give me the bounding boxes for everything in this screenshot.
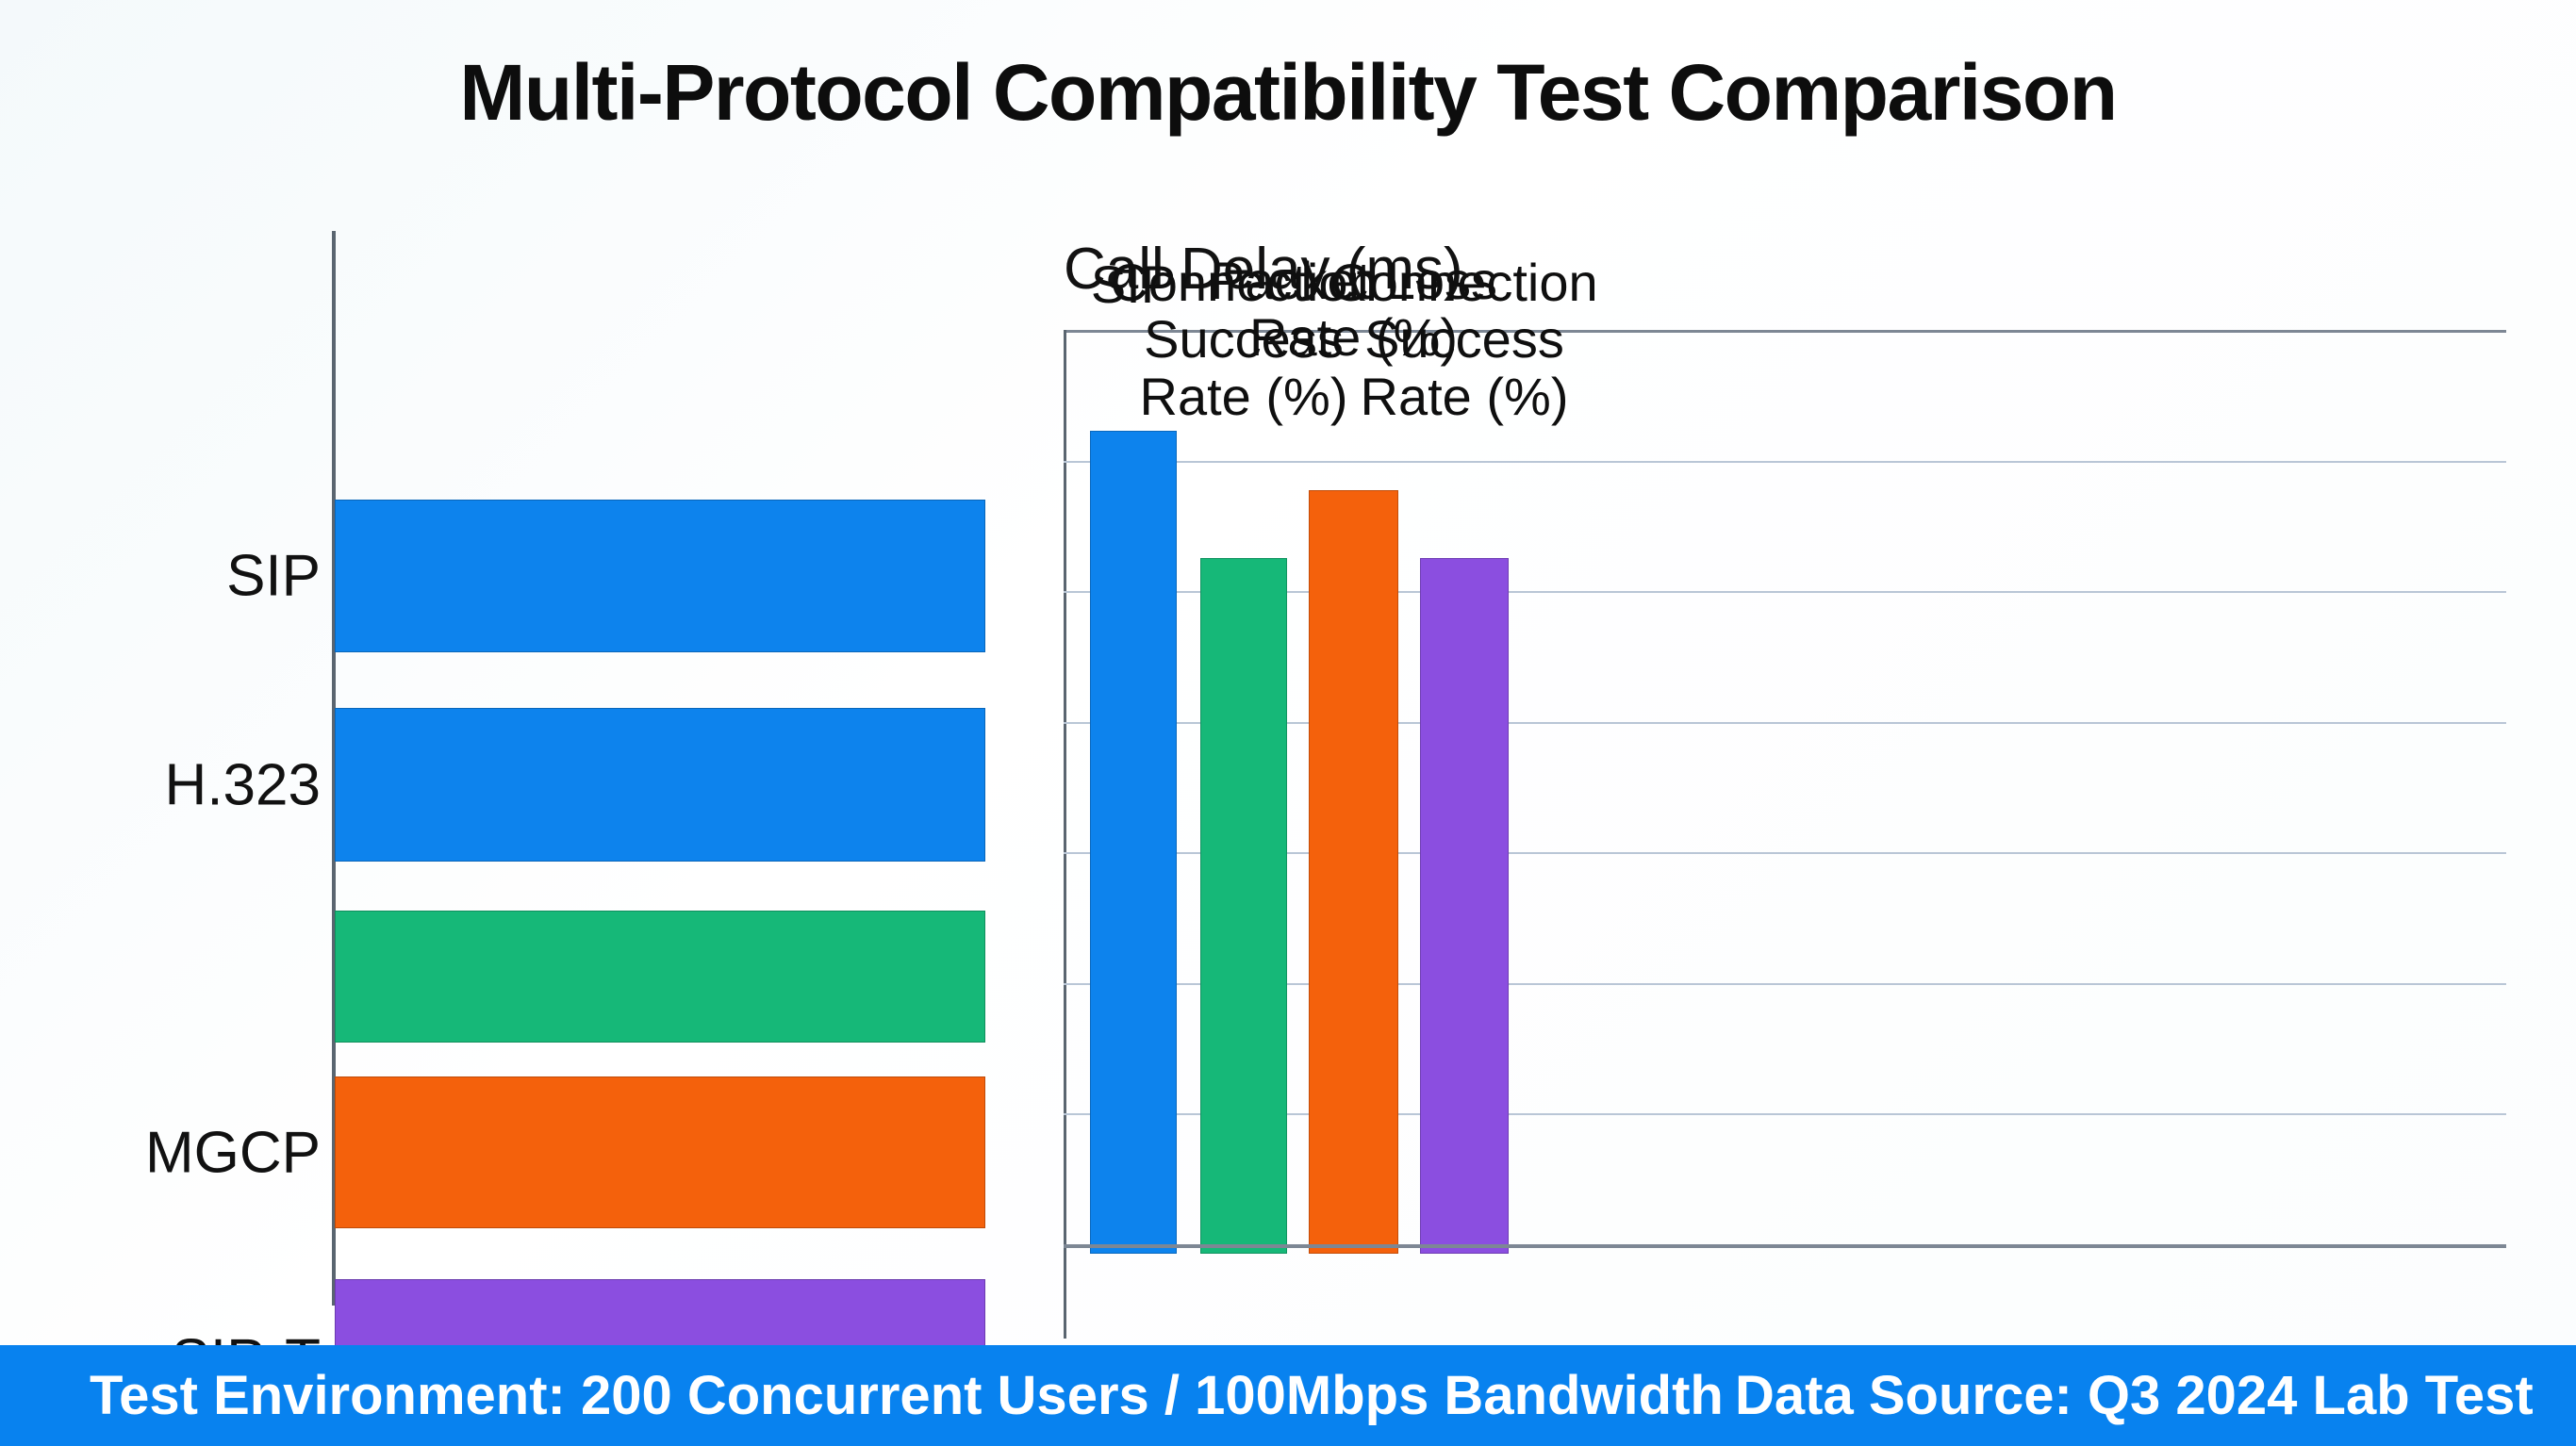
footer-test-environment: Test Environment: 200 Concurrent Users /… bbox=[90, 1364, 1724, 1427]
vertical-bar-column: ConnectionSuccessRate (%) bbox=[1420, 339, 1509, 1254]
horizontal-bar-chart: SIPH.323MGCPSIP-T bbox=[0, 217, 1037, 1310]
plot-left-border bbox=[1064, 330, 1066, 1339]
horizontal-bar-row bbox=[0, 911, 1037, 1043]
vertical-bar-label-line: Success bbox=[1364, 309, 1564, 369]
horizontal-bar-label: SIP bbox=[226, 543, 321, 610]
horizontal-bar-row: H.323 bbox=[0, 708, 1037, 862]
vertical-bar-column: SIP bbox=[1090, 339, 1177, 1254]
vertical-bar bbox=[1420, 558, 1509, 1254]
vertical-bar bbox=[1200, 558, 1287, 1254]
vertical-bar-label-line: Rate (%) bbox=[1361, 367, 1569, 426]
horizontal-bar bbox=[335, 500, 985, 652]
vertical-bar-label-line: Connection bbox=[1330, 253, 1597, 312]
horizontal-bar-label: H.323 bbox=[165, 751, 321, 818]
plot-baseline bbox=[1064, 1244, 2506, 1248]
horizontal-bar bbox=[335, 708, 985, 862]
horizontal-bar bbox=[335, 911, 985, 1043]
footer-banner: Test Environment: 200 Concurrent Users /… bbox=[0, 1345, 2576, 1446]
horizontal-bar bbox=[335, 1076, 985, 1228]
horizontal-bar-label: MGCP bbox=[145, 1119, 321, 1186]
horizontal-bar-row: MGCP bbox=[0, 1076, 1037, 1228]
plot-area: SIPConnectionSuccessRate (%)Packet LossR… bbox=[1064, 330, 2506, 1254]
horizontal-bar-row: SIP bbox=[0, 500, 1037, 652]
vertical-bar-column: ConnectionSuccessRate (%) bbox=[1200, 339, 1287, 1254]
footer-data-source: Data Source: Q3 2024 Lab Test bbox=[1735, 1364, 2534, 1427]
page-title: Multi-Protocol Compatibility Test Compar… bbox=[0, 47, 2576, 139]
vertical-bar bbox=[1090, 431, 1177, 1254]
chart-canvas: Multi-Protocol Compatibility Test Compar… bbox=[0, 0, 2576, 1446]
vertical-bar-column: Packet LossRate (%) bbox=[1309, 339, 1398, 1254]
vertical-bar-label: ConnectionSuccessRate (%) bbox=[1330, 255, 1597, 425]
vertical-bar bbox=[1309, 490, 1398, 1254]
vertical-bar-chart: Call Delay (ms) SIPConnectionSuccessRate… bbox=[1056, 236, 2508, 1310]
